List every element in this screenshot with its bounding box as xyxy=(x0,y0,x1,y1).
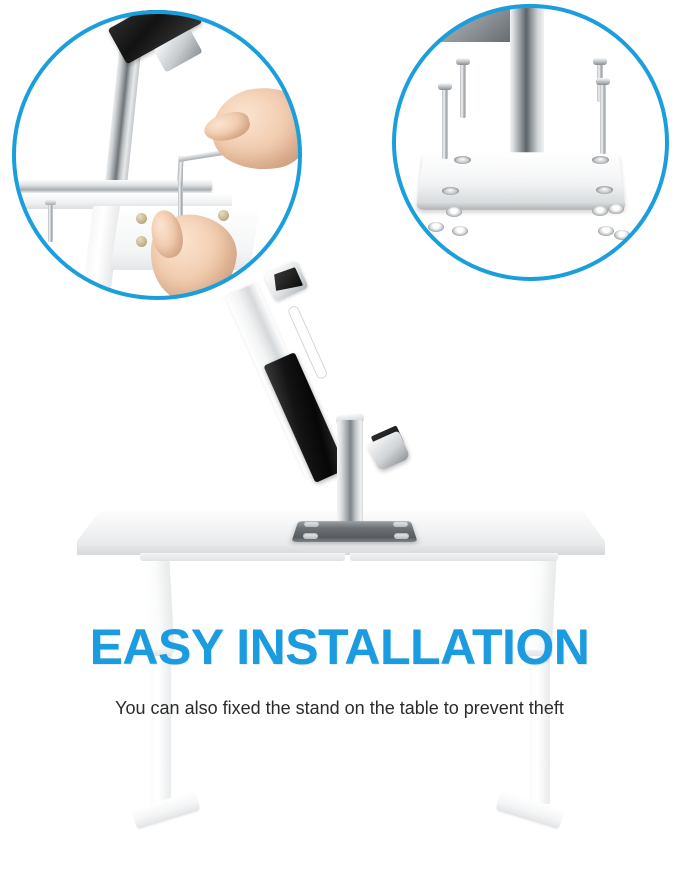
tablet-stand-product xyxy=(0,0,679,873)
product-image-canvas: EASY INSTALLATION You can also fixed the… xyxy=(0,0,679,873)
base-plate-slot xyxy=(304,521,319,527)
subtitle: You can also fixed the stand on the tabl… xyxy=(0,698,679,719)
base-plate-slot xyxy=(394,533,409,539)
stand-post xyxy=(337,420,363,525)
headline: EASY INSTALLATION xyxy=(0,618,679,676)
base-plate-slot xyxy=(303,533,318,539)
base-plate-slot xyxy=(393,521,408,527)
